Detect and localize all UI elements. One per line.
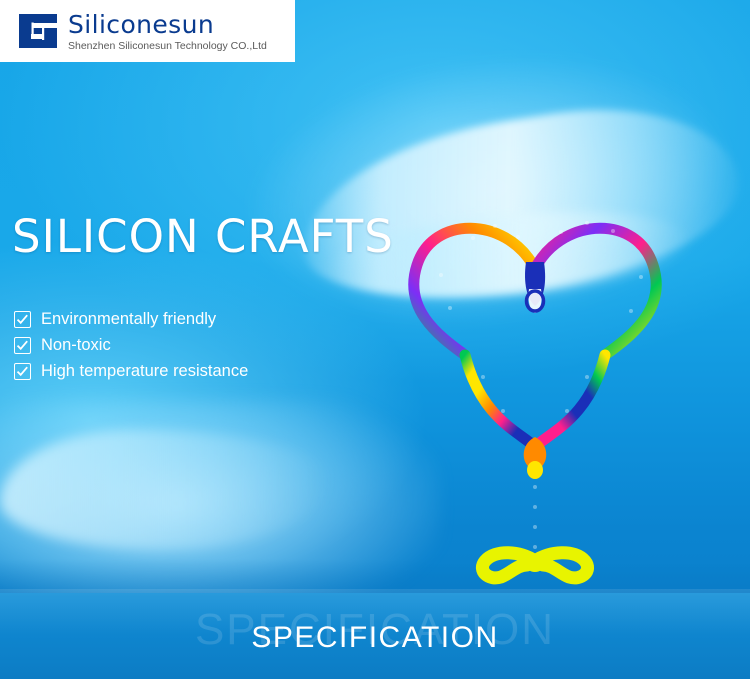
list-item: High temperature resistance (14, 358, 248, 384)
brand-subtitle: Shenzhen Siliconesun Technology CO.,Ltd (68, 41, 267, 53)
feature-label: Non-toxic (41, 336, 111, 355)
feature-label: Environmentally friendly (41, 310, 216, 329)
brand-logo-block: Siliconesun Shenzhen Siliconesun Technol… (0, 0, 295, 62)
product-image (355, 165, 735, 590)
siliconesun-s-logo-icon (16, 10, 60, 52)
check-icon (14, 363, 31, 380)
list-item: Environmentally friendly (14, 306, 248, 332)
page-title: SILICON CRAFTS (12, 210, 394, 263)
feature-label: High temperature resistance (41, 362, 248, 381)
check-icon (14, 337, 31, 354)
check-icon (14, 311, 31, 328)
footer-title: SPECIFICATION (0, 621, 750, 655)
product-banner: Siliconesun Shenzhen Siliconesun Technol… (0, 0, 750, 679)
feature-list: Environmentally friendly Non-toxic High … (14, 306, 248, 384)
list-item: Non-toxic (14, 332, 248, 358)
brand-text-wrap: Siliconesun Shenzhen Siliconesun Technol… (68, 10, 267, 53)
brand-name: Siliconesun (68, 12, 267, 37)
